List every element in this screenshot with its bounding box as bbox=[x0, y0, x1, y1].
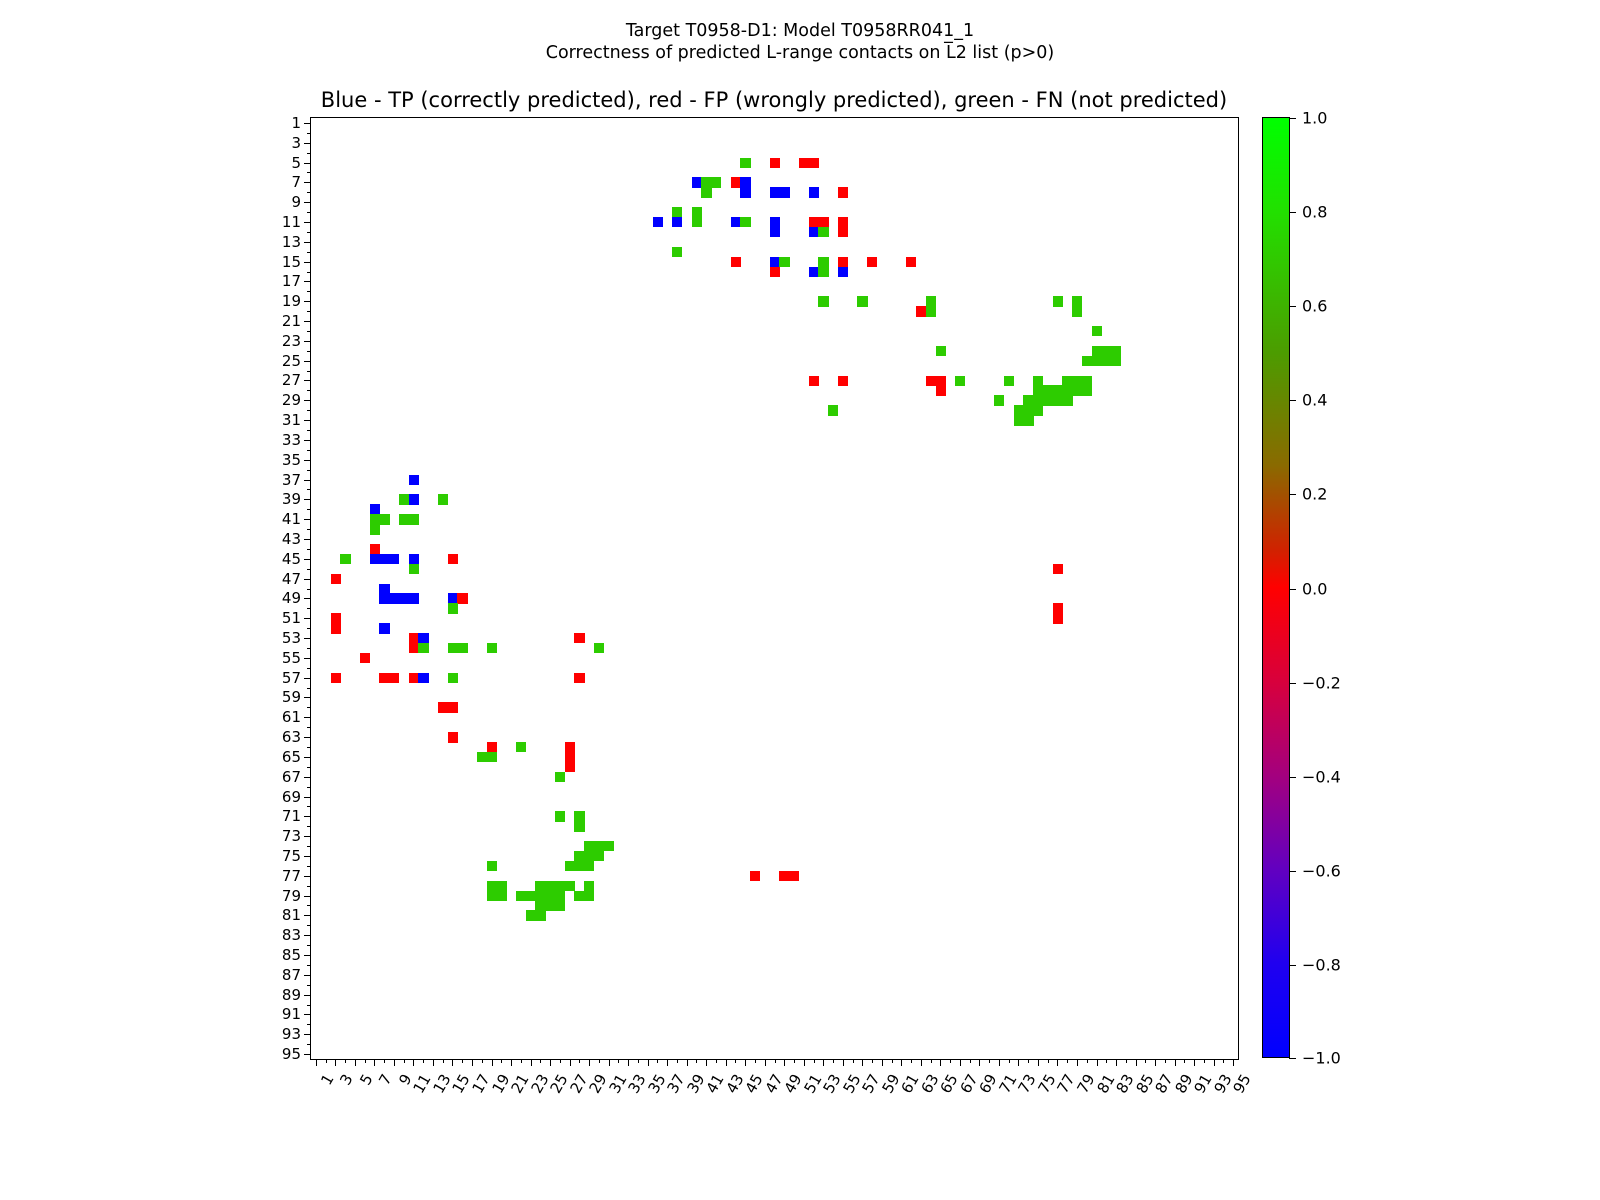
contact-cell-fn bbox=[1023, 405, 1033, 415]
contact-cell-fn bbox=[535, 910, 545, 920]
x-axis-tick bbox=[511, 1059, 512, 1066]
x-axis-tick bbox=[667, 1059, 668, 1066]
x-axis-tick bbox=[775, 1059, 776, 1063]
x-axis-tick bbox=[326, 1059, 327, 1063]
contact-cell-fn bbox=[1101, 356, 1111, 366]
x-axis-tick bbox=[657, 1059, 658, 1063]
x-axis-tick bbox=[999, 1059, 1000, 1066]
contact-cell-fn bbox=[740, 158, 750, 168]
colorbar-tick-label: 1.0 bbox=[1302, 109, 1327, 128]
contact-cell-fn bbox=[1062, 376, 1072, 386]
x-axis-tick bbox=[970, 1059, 971, 1063]
y-axis-tick bbox=[304, 361, 311, 362]
contact-cell-fn bbox=[477, 752, 487, 762]
contact-cell-fp bbox=[438, 702, 448, 712]
contact-cell-tp bbox=[370, 504, 380, 514]
contact-cell-tp bbox=[379, 593, 389, 603]
contact-cell-tp bbox=[838, 267, 848, 277]
contact-cell-fn bbox=[672, 207, 682, 217]
x-axis-tick bbox=[384, 1059, 385, 1063]
contact-cell-fp bbox=[379, 673, 389, 683]
contact-cell-fp bbox=[867, 257, 877, 267]
y-axis-tick bbox=[304, 1054, 311, 1055]
contact-cell-tp bbox=[379, 554, 389, 564]
contact-cell-fn bbox=[555, 772, 565, 782]
contact-cell-fn bbox=[740, 217, 750, 227]
y-axis-tick-label: 75 bbox=[282, 847, 301, 865]
contact-cell-tp bbox=[409, 593, 419, 603]
colorbar-tick bbox=[1289, 400, 1296, 401]
contact-cell-fn bbox=[409, 514, 419, 524]
y-axis-tick-label: 19 bbox=[282, 292, 301, 310]
contact-cell-fp bbox=[770, 267, 780, 277]
x-axis-tick bbox=[1233, 1059, 1234, 1066]
y-axis-tick bbox=[304, 301, 311, 302]
contact-cell-fp bbox=[409, 673, 419, 683]
x-axis-tick bbox=[355, 1059, 356, 1066]
contact-cell-fn bbox=[1082, 385, 1092, 395]
y-axis-tick bbox=[304, 876, 311, 877]
y-axis-tick bbox=[307, 589, 311, 590]
x-axis-tick bbox=[413, 1059, 414, 1066]
y-axis-tick-label: 87 bbox=[282, 966, 301, 984]
colorbar-tick-label: 0.0 bbox=[1302, 579, 1327, 598]
contact-cell-fp bbox=[1053, 603, 1063, 613]
x-axis-tick-label: 1 bbox=[317, 1071, 337, 1088]
y-axis-tick-label: 81 bbox=[282, 906, 301, 924]
colorbar-tick bbox=[1289, 965, 1296, 966]
x-axis-tick-label: 3 bbox=[337, 1071, 357, 1088]
x-axis-tick bbox=[1136, 1059, 1137, 1066]
y-axis-tick bbox=[304, 499, 311, 500]
colorbar-tick bbox=[1289, 306, 1296, 307]
y-axis-tick bbox=[304, 163, 311, 164]
y-axis-tick-label: 73 bbox=[282, 827, 301, 845]
y-axis-tick-label: 7 bbox=[291, 173, 301, 191]
x-axis-tick bbox=[501, 1059, 502, 1063]
x-axis-tick bbox=[1087, 1059, 1088, 1063]
contact-cell-fn bbox=[1033, 376, 1043, 386]
y-axis-tick bbox=[304, 559, 311, 560]
y-axis-tick-label: 79 bbox=[282, 887, 301, 905]
contact-cell-fn bbox=[457, 643, 467, 653]
y-axis-tick-label: 93 bbox=[282, 1025, 301, 1043]
x-axis-tick bbox=[472, 1059, 473, 1066]
contact-cell-fn bbox=[1053, 296, 1063, 306]
contact-cell-fp bbox=[574, 633, 584, 643]
y-axis-tick-label: 35 bbox=[282, 451, 301, 469]
y-axis-tick bbox=[304, 638, 311, 639]
contact-cell-fn bbox=[818, 257, 828, 267]
y-axis-tick bbox=[304, 757, 311, 758]
contact-cell-fn bbox=[574, 851, 584, 861]
contact-cell-fn bbox=[1072, 376, 1082, 386]
contact-cell-fn bbox=[1062, 395, 1072, 405]
contact-cell-fp bbox=[799, 158, 809, 168]
y-axis-tick bbox=[307, 291, 311, 292]
contact-cell-fn bbox=[1004, 376, 1014, 386]
contact-cell-fp bbox=[731, 257, 741, 267]
y-axis-tick bbox=[304, 539, 311, 540]
contact-cell-fp bbox=[838, 376, 848, 386]
contact-cell-fp bbox=[1053, 613, 1063, 623]
x-axis-tick bbox=[1018, 1059, 1019, 1066]
y-axis-tick bbox=[307, 1024, 311, 1025]
colorbar-tick-label: 0.6 bbox=[1302, 297, 1327, 316]
contact-cell-fn bbox=[487, 861, 497, 871]
y-axis-tick-label: 95 bbox=[282, 1045, 301, 1063]
y-axis-tick bbox=[304, 579, 311, 580]
y-axis-tick-label: 37 bbox=[282, 471, 301, 489]
contact-cell-tp bbox=[370, 554, 380, 564]
x-axis-tick bbox=[599, 1059, 600, 1063]
y-axis-tick bbox=[307, 866, 311, 867]
contact-cell-fp bbox=[838, 217, 848, 227]
y-axis-tick-label: 67 bbox=[282, 768, 301, 786]
y-axis-tick bbox=[307, 1044, 311, 1045]
contact-cell-fn bbox=[584, 881, 594, 891]
contact-cell-fn bbox=[487, 881, 497, 891]
contact-cell-fp bbox=[370, 544, 380, 554]
contact-cell-fn bbox=[779, 257, 789, 267]
y-axis-tick bbox=[304, 995, 311, 996]
y-axis-tick-label: 5 bbox=[291, 154, 301, 172]
y-axis-tick-label: 1 bbox=[291, 114, 301, 132]
contact-cell-fn bbox=[584, 861, 594, 871]
y-axis-tick-label: 91 bbox=[282, 1005, 301, 1023]
y-axis-tick bbox=[307, 905, 311, 906]
x-axis-tick bbox=[1194, 1059, 1195, 1066]
y-axis-tick bbox=[307, 331, 311, 332]
x-axis-tick bbox=[716, 1059, 717, 1063]
contact-cell-fn bbox=[565, 881, 575, 891]
contact-cell-fn bbox=[448, 603, 458, 613]
contact-cell-fp bbox=[409, 643, 419, 653]
contact-cell-fp bbox=[809, 158, 819, 168]
y-axis-tick bbox=[307, 747, 311, 748]
x-axis-tick bbox=[1204, 1059, 1205, 1063]
contact-cell-tp bbox=[418, 673, 428, 683]
y-axis-tick bbox=[304, 618, 311, 619]
x-axis-tick bbox=[1028, 1059, 1029, 1063]
x-axis-tick bbox=[833, 1059, 834, 1063]
x-axis-tick-label: 5 bbox=[356, 1071, 376, 1088]
colorbar-tick bbox=[1289, 589, 1296, 590]
y-axis-tick bbox=[304, 598, 311, 599]
y-axis-tick-label: 61 bbox=[282, 708, 301, 726]
contact-cell-fp bbox=[331, 673, 341, 683]
contact-cell-fp bbox=[409, 633, 419, 643]
y-axis-tick-label: 63 bbox=[282, 728, 301, 746]
contact-cell-fn bbox=[1053, 395, 1063, 405]
contact-cell-tp bbox=[770, 227, 780, 237]
x-axis-tick bbox=[755, 1059, 756, 1063]
x-axis-tick bbox=[492, 1059, 493, 1066]
contact-cell-tp bbox=[740, 177, 750, 187]
contact-cell-tp bbox=[379, 584, 389, 594]
contact-cell-fn bbox=[1111, 356, 1121, 366]
y-axis-tick-label: 85 bbox=[282, 946, 301, 964]
y-axis-tick-label: 9 bbox=[291, 193, 301, 211]
y-axis-tick bbox=[304, 420, 311, 421]
y-axis-tick bbox=[304, 460, 311, 461]
y-axis-tick bbox=[304, 480, 311, 481]
y-axis-tick bbox=[307, 707, 311, 708]
x-axis-tick bbox=[638, 1059, 639, 1063]
x-axis-tick bbox=[609, 1059, 610, 1066]
x-axis-tick bbox=[843, 1059, 844, 1066]
contact-cell-fp bbox=[750, 871, 760, 881]
contact-cell-fn bbox=[936, 346, 946, 356]
x-axis-tick bbox=[989, 1059, 990, 1063]
y-axis-tick bbox=[307, 648, 311, 649]
x-axis-tick bbox=[1184, 1059, 1185, 1063]
contact-cell-fn bbox=[370, 524, 380, 534]
y-axis-tick bbox=[307, 806, 311, 807]
contact-cell-fp bbox=[809, 217, 819, 227]
y-axis-tick-label: 3 bbox=[291, 134, 301, 152]
x-axis-tick bbox=[394, 1059, 395, 1066]
x-axis-tick bbox=[696, 1059, 697, 1063]
x-axis-tick bbox=[374, 1059, 375, 1066]
y-axis-tick bbox=[307, 311, 311, 312]
contact-cell-tp bbox=[409, 475, 419, 485]
y-axis-tick-label: 41 bbox=[282, 510, 301, 528]
contact-cell-fn bbox=[584, 891, 594, 901]
y-axis-tick bbox=[307, 371, 311, 372]
colorbar-tick bbox=[1289, 777, 1296, 778]
contact-cell-tp bbox=[672, 217, 682, 227]
contact-cell-tp bbox=[770, 257, 780, 267]
contact-cell-fn bbox=[487, 752, 497, 762]
y-axis-tick-label: 59 bbox=[282, 688, 301, 706]
contact-cell-fn bbox=[555, 881, 565, 891]
x-axis-tick bbox=[1145, 1059, 1146, 1063]
contact-cell-tp bbox=[809, 187, 819, 197]
y-axis-tick bbox=[304, 143, 311, 144]
contact-cell-fn bbox=[565, 861, 575, 871]
x-axis-tick bbox=[804, 1059, 805, 1066]
y-axis-tick-label: 23 bbox=[282, 332, 301, 350]
contact-cell-tp bbox=[399, 593, 409, 603]
y-axis-tick-label: 65 bbox=[282, 748, 301, 766]
contact-cell-fn bbox=[584, 851, 594, 861]
contact-cell-tp bbox=[809, 227, 819, 237]
contact-cell-fp bbox=[731, 177, 741, 187]
y-axis-tick-label: 57 bbox=[282, 669, 301, 687]
contact-cell-fn bbox=[711, 177, 721, 187]
contact-cell-fn bbox=[526, 910, 536, 920]
y-axis-tick bbox=[307, 549, 311, 550]
x-axis-tick bbox=[1175, 1059, 1176, 1066]
contact-cell-tp bbox=[779, 187, 789, 197]
contact-cell-fp bbox=[574, 673, 584, 683]
x-axis-tick bbox=[452, 1059, 453, 1066]
title-line-1: Target T0958-D1: Model T0958RR041_1 bbox=[0, 20, 1600, 42]
contact-cell-tp bbox=[409, 494, 419, 504]
y-axis-tick-label: 47 bbox=[282, 570, 301, 588]
y-axis-tick bbox=[307, 351, 311, 352]
contact-cell-fn bbox=[1062, 385, 1072, 395]
x-axis-tick bbox=[1067, 1059, 1068, 1063]
y-axis-tick bbox=[307, 212, 311, 213]
x-axis-tick bbox=[872, 1059, 873, 1063]
contact-cell-fn bbox=[418, 643, 428, 653]
contact-cell-tp bbox=[653, 217, 663, 227]
x-axis-tick bbox=[1048, 1059, 1049, 1063]
contact-cell-fn bbox=[535, 881, 545, 891]
x-axis-tick bbox=[550, 1059, 551, 1066]
contact-map-plot-area[interactable]: 1357911131517192123252729313335373941434… bbox=[310, 117, 1239, 1060]
y-axis-tick-label: 29 bbox=[282, 391, 301, 409]
figure-canvas: Target T0958-D1: Model T0958RR041_1 Corr… bbox=[0, 0, 1600, 1200]
contact-cell-tp bbox=[448, 593, 458, 603]
x-axis-tick bbox=[677, 1059, 678, 1063]
y-axis-tick bbox=[304, 697, 311, 698]
contact-cell-fp bbox=[565, 752, 575, 762]
contact-cell-fn bbox=[1092, 356, 1102, 366]
y-axis-tick bbox=[307, 886, 311, 887]
colorbar-tick-label: 0.8 bbox=[1302, 203, 1327, 222]
contact-cell-fn bbox=[604, 841, 614, 851]
colorbar: 1.00.80.60.40.20.0−0.2−0.4−0.6−0.8−1.0 bbox=[1262, 117, 1290, 1058]
contact-cell-fn bbox=[1111, 346, 1121, 356]
y-axis-tick-label: 51 bbox=[282, 609, 301, 627]
y-axis-tick-label: 27 bbox=[282, 371, 301, 389]
x-axis-tick bbox=[1057, 1059, 1058, 1066]
y-axis-tick bbox=[307, 489, 311, 490]
y-axis-tick bbox=[304, 321, 311, 322]
y-axis-tick-label: 21 bbox=[282, 312, 301, 330]
y-axis-tick-label: 45 bbox=[282, 550, 301, 568]
x-axis-tick bbox=[784, 1059, 785, 1066]
contact-cell-fp bbox=[487, 742, 497, 752]
contact-cell-tp bbox=[418, 633, 428, 643]
y-axis-tick bbox=[304, 341, 311, 342]
x-axis-tick bbox=[648, 1059, 649, 1066]
y-axis-tick bbox=[307, 569, 311, 570]
y-axis-tick bbox=[307, 688, 311, 689]
x-axis-tick bbox=[345, 1059, 346, 1063]
contact-cell-fp bbox=[779, 871, 789, 881]
x-axis-tick bbox=[882, 1059, 883, 1066]
y-axis-tick bbox=[307, 628, 311, 629]
contact-cell-fp bbox=[331, 623, 341, 633]
colorbar-tick bbox=[1289, 494, 1296, 495]
y-axis-tick bbox=[307, 272, 311, 273]
contact-cell-fn bbox=[1072, 385, 1082, 395]
contact-cell-fp bbox=[789, 871, 799, 881]
x-axis-tick bbox=[901, 1059, 902, 1066]
contact-cell-fp bbox=[1053, 564, 1063, 574]
x-axis-tick bbox=[1214, 1059, 1215, 1066]
x-axis-tick bbox=[940, 1059, 941, 1066]
x-axis-tick bbox=[560, 1059, 561, 1063]
contact-cell-tp bbox=[770, 187, 780, 197]
y-axis-tick-label: 77 bbox=[282, 867, 301, 885]
y-axis-tick-label: 71 bbox=[282, 807, 301, 825]
x-axis-tick bbox=[1155, 1059, 1156, 1066]
y-axis-tick bbox=[304, 380, 311, 381]
y-axis-tick bbox=[304, 1014, 311, 1015]
y-axis-tick bbox=[307, 925, 311, 926]
x-axis-tick bbox=[745, 1059, 746, 1066]
x-axis-tick bbox=[628, 1059, 629, 1066]
y-axis-tick bbox=[307, 252, 311, 253]
y-axis-tick-label: 69 bbox=[282, 788, 301, 806]
contact-cell-fn bbox=[828, 405, 838, 415]
contact-cell-fn bbox=[409, 564, 419, 574]
contact-cell-fn bbox=[545, 901, 555, 911]
y-axis-tick bbox=[307, 668, 311, 669]
y-axis-tick bbox=[304, 519, 311, 520]
contact-cell-fn bbox=[926, 306, 936, 316]
y-axis-tick bbox=[307, 608, 311, 609]
contact-cell-fp bbox=[360, 653, 370, 663]
colorbar-tick bbox=[1289, 118, 1296, 119]
contact-cell-fn bbox=[955, 376, 965, 386]
contact-cell-fn bbox=[496, 891, 506, 901]
contact-cell-fn bbox=[701, 187, 711, 197]
y-axis-tick bbox=[307, 192, 311, 193]
contact-cell-fn bbox=[516, 742, 526, 752]
colorbar-gradient: 1.00.80.60.40.20.0−0.2−0.4−0.6−0.8−1.0 bbox=[1262, 117, 1290, 1058]
contact-cell-fn bbox=[1023, 395, 1033, 405]
contact-cell-fn bbox=[487, 643, 497, 653]
contact-cell-fn bbox=[535, 891, 545, 901]
y-axis-tick bbox=[304, 935, 311, 936]
y-axis-tick bbox=[307, 133, 311, 134]
x-axis-tick bbox=[335, 1059, 336, 1066]
contact-cell-fn bbox=[574, 821, 584, 831]
contact-cell-fp bbox=[936, 376, 946, 386]
x-axis-tick bbox=[1106, 1059, 1107, 1063]
y-axis-tick-label: 43 bbox=[282, 530, 301, 548]
y-axis-tick bbox=[307, 985, 311, 986]
y-axis-tick bbox=[304, 896, 311, 897]
contact-cell-fn bbox=[496, 881, 506, 891]
contact-cell-fn bbox=[1082, 376, 1092, 386]
y-axis-tick bbox=[307, 153, 311, 154]
contact-cell-fn bbox=[487, 891, 497, 901]
legend-subtitle: Blue - TP (correctly predicted), red - F… bbox=[310, 88, 1238, 112]
x-axis-tick bbox=[765, 1059, 766, 1066]
contact-cell-fp bbox=[809, 376, 819, 386]
x-axis-tick bbox=[570, 1059, 571, 1066]
y-axis-tick-label: 83 bbox=[282, 926, 301, 944]
contact-cell-layer bbox=[311, 118, 1238, 1059]
contact-cell-fn bbox=[1082, 356, 1092, 366]
x-axis-tick bbox=[521, 1059, 522, 1063]
y-axis-tick bbox=[304, 400, 311, 401]
contact-cell-fn bbox=[857, 296, 867, 306]
x-axis-tick bbox=[1223, 1059, 1224, 1063]
contact-cell-fn bbox=[1033, 395, 1043, 405]
contact-cell-fp bbox=[448, 554, 458, 564]
contact-cell-fn bbox=[1043, 395, 1053, 405]
contact-cell-fp bbox=[448, 702, 458, 712]
y-axis-tick bbox=[307, 509, 311, 510]
x-axis-tick bbox=[892, 1059, 893, 1063]
x-axis-tick bbox=[540, 1059, 541, 1063]
x-axis-tick bbox=[853, 1059, 854, 1063]
x-axis-tick-label: 95 bbox=[1230, 1071, 1255, 1097]
contact-cell-fp bbox=[926, 376, 936, 386]
contact-cell-fn bbox=[555, 901, 565, 911]
contact-cell-fn bbox=[818, 296, 828, 306]
x-axis-tick bbox=[531, 1059, 532, 1066]
x-axis-tick bbox=[1038, 1059, 1039, 1066]
